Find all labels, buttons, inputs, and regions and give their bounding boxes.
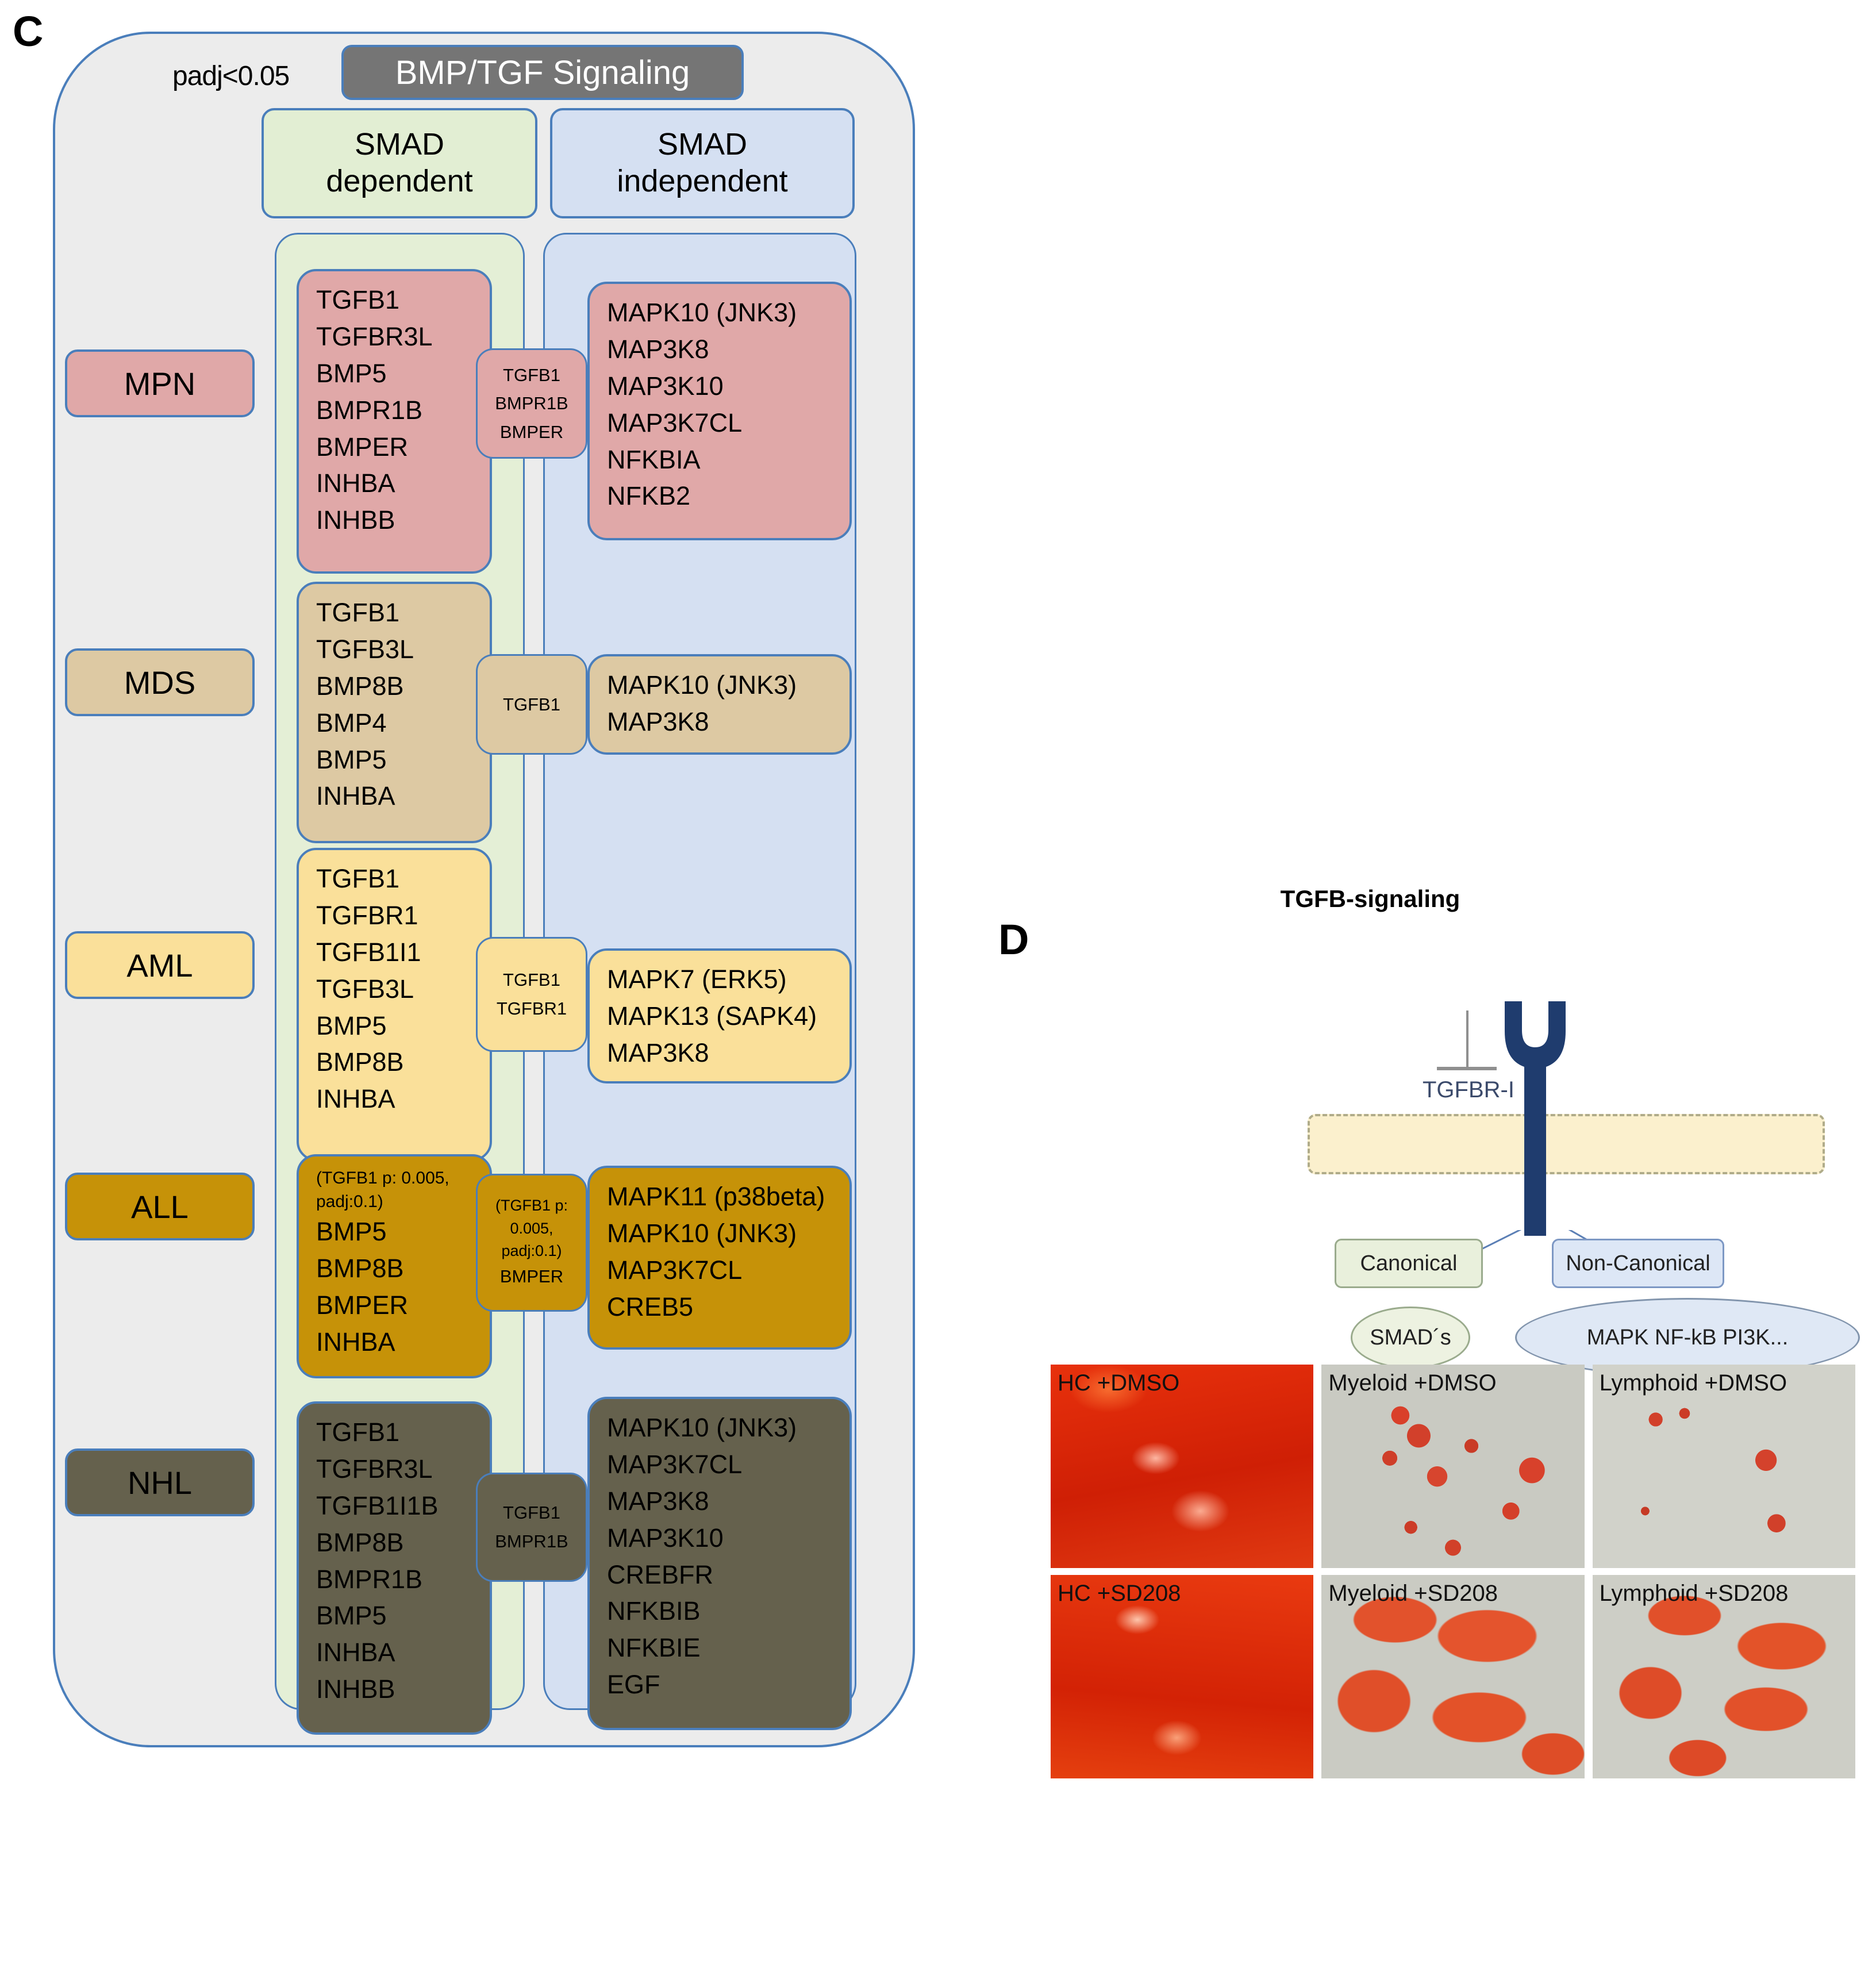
gene-name: TGFB1: [316, 594, 490, 631]
gene-name: BMPER: [316, 1287, 490, 1324]
disease-chip-mds[interactable]: MDS: [65, 648, 255, 716]
micrograph-myeloid-sd208: Myeloid +SD208: [1321, 1575, 1584, 1778]
disease-chip-label: MDS: [124, 664, 195, 701]
micrograph-label: Myeloid +SD208: [1328, 1581, 1498, 1607]
gene-name: BMP4: [316, 705, 490, 741]
gene-name: TGFBR3L: [316, 1451, 490, 1488]
gene-name: TGFB1: [316, 282, 490, 318]
disease-chip-label: MPN: [124, 365, 195, 402]
gene-name: INHBB: [316, 502, 490, 539]
gene-name: TGFB1I1: [316, 934, 490, 971]
gene-name: TGFBR1: [316, 897, 490, 934]
gene-box-independent-aml[interactable]: MAPK7 (ERK5)MAPK13 (SAPK4)MAP3K8: [587, 948, 852, 1083]
gene-name: TGFB1: [503, 361, 560, 390]
gene-box-independent-mds[interactable]: MAPK10 (JNK3)MAP3K8: [587, 654, 852, 755]
gene-box-shared-aml[interactable]: TGFB1TGFBR1: [476, 937, 587, 1052]
bmp-tgf-signaling-title: BMP/TGF Signaling: [341, 45, 744, 100]
gene-name: BMP8B: [316, 668, 490, 705]
column-header-smad-dependent: SMAD dependent: [262, 108, 537, 218]
gene-name: CREBFR: [607, 1557, 849, 1593]
column-header-smad-dependent-line1: SMAD: [355, 126, 444, 163]
panel-c-letter: C: [13, 10, 43, 53]
gene-name: NFKBIE: [607, 1630, 849, 1666]
gene-box-shared-all[interactable]: (TGFB1 p: 0.005, padj:0.1)BMPER: [476, 1174, 587, 1312]
inhibition-bar-icon: [1437, 1067, 1497, 1070]
gene-name: BMPER: [500, 1262, 563, 1291]
micrograph-label: HC +DMSO: [1058, 1370, 1179, 1396]
gene-name: MAPK13 (SAPK4): [607, 998, 849, 1035]
gene-box-independent-mpn[interactable]: MAPK10 (JNK3)MAP3K8MAP3K10MAP3K7CLNFKBIA…: [587, 282, 852, 540]
padj-threshold-label: padj<0.05: [172, 60, 289, 92]
gene-name: MAP3K10: [607, 1520, 849, 1557]
gene-name: BMP8B: [316, 1044, 490, 1081]
panel-d-title: TGFB-signaling: [1281, 885, 1460, 913]
gene-name: BMPER: [500, 418, 563, 447]
micrograph-lymphoid-dmso: Lymphoid +DMSO: [1593, 1365, 1855, 1568]
disease-chip-label: AML: [126, 947, 193, 984]
gene-name: TGFBR3L: [316, 318, 490, 355]
gene-box-dependent-aml[interactable]: TGFB1TGFBR1TGFB1I1TGFB3LBMP5BMP8BINHBA: [297, 848, 492, 1161]
micrograph-hc-sd208: HC +SD208: [1051, 1575, 1313, 1778]
gene-name: MAP3K8: [607, 1483, 849, 1520]
gene-name: INHBA: [316, 778, 490, 814]
gene-note: (TGFB1 p: 0.005, padj:0.1): [480, 1194, 583, 1262]
gene-name: BMP5: [316, 1008, 490, 1044]
gene-name: MAP3K8: [607, 331, 849, 368]
gene-name: MAPK10 (JNK3): [607, 1409, 849, 1446]
gene-name: BMP5: [316, 1597, 490, 1634]
gene-name: BMPER: [316, 429, 490, 466]
gene-name: TGFB1: [503, 1498, 560, 1527]
disease-chip-mpn[interactable]: MPN: [65, 349, 255, 417]
column-header-smad-independent-line2: independent: [617, 163, 787, 200]
disease-chip-all[interactable]: ALL: [65, 1173, 255, 1240]
gene-name: BMP5: [316, 355, 490, 392]
gene-note: (TGFB1 p: 0.005, padj:0.1): [316, 1167, 490, 1213]
gene-name: TGFBR1: [497, 994, 567, 1023]
gene-name: MAP3K7CL: [607, 1252, 849, 1289]
disease-chip-label: ALL: [131, 1188, 189, 1225]
disease-chip-label: NHL: [128, 1464, 192, 1501]
gene-name: BMP8B: [316, 1524, 490, 1561]
gene-box-dependent-nhl[interactable]: TGFB1TGFBR3LTGFB1I1BBMP8BBMPR1BBMP5INHBA…: [297, 1401, 492, 1735]
gene-name: BMPR1B: [495, 1527, 568, 1556]
gene-box-dependent-mds[interactable]: TGFB1TGFB3LBMP8BBMP4BMP5INHBA: [297, 582, 492, 843]
tgfbr-receptor-icon: [1498, 998, 1573, 1239]
micrograph-lymphoid-sd208: Lymphoid +SD208: [1593, 1575, 1855, 1778]
gene-name: TGFB1: [503, 966, 560, 994]
gene-name: BMPR1B: [495, 389, 568, 418]
gene-box-dependent-mpn[interactable]: TGFB1TGFBR3LBMP5BMPR1BBMPERINHBAINHBB: [297, 269, 492, 574]
micrograph-label: Myeloid +DMSO: [1328, 1370, 1496, 1396]
gene-name: BMP8B: [316, 1250, 490, 1287]
gene-box-independent-all[interactable]: MAPK11 (p38beta)MAPK10 (JNK3)MAP3K7CLCRE…: [587, 1166, 852, 1350]
disease-chip-aml[interactable]: AML: [65, 931, 255, 999]
column-header-smad-independent-line1: SMAD: [658, 126, 747, 163]
gene-name: BMP5: [316, 1213, 490, 1250]
gene-name: CREB5: [607, 1289, 849, 1325]
gene-box-shared-mpn[interactable]: TGFB1BMPR1BBMPER: [476, 348, 587, 459]
column-header-smad-dependent-line2: dependent: [326, 163, 472, 200]
gene-name: MAP3K8: [607, 1035, 849, 1071]
gene-name: NFKBIA: [607, 441, 849, 478]
gene-name: TGFB3L: [316, 631, 490, 668]
gene-name: MAPK10 (JNK3): [607, 1215, 849, 1252]
gene-name: BMPR1B: [316, 392, 490, 429]
micrograph-label: HC +SD208: [1058, 1581, 1181, 1607]
gene-name: MAP3K8: [607, 704, 849, 740]
gene-name: TGFB1: [316, 1414, 490, 1451]
micrograph-label: Lymphoid +DMSO: [1600, 1370, 1787, 1396]
gene-name: BMPR1B: [316, 1561, 490, 1598]
micrograph-grid: HC +DMSOMyeloid +DMSOLymphoid +DMSOHC +S…: [1051, 1365, 1855, 1778]
inhibition-stem: [1466, 1010, 1468, 1068]
gene-name: MAP3K10: [607, 368, 849, 405]
non-canonical-branch-box: Non-Canonical: [1552, 1239, 1724, 1288]
gene-name: INHBA: [316, 465, 490, 502]
gene-name: TGFB3L: [316, 971, 490, 1008]
gene-name: INHBB: [316, 1671, 490, 1708]
gene-box-independent-nhl[interactable]: MAPK10 (JNK3)MAP3K7CLMAP3K8MAP3K10CREBFR…: [587, 1397, 852, 1730]
canonical-branch-box: Canonical: [1335, 1239, 1483, 1288]
micrograph-hc-dmso: HC +DMSO: [1051, 1365, 1313, 1568]
micrograph-myeloid-dmso: Myeloid +DMSO: [1321, 1365, 1584, 1568]
gene-name: MAPK11 (p38beta): [607, 1178, 849, 1215]
gene-name: INHBA: [316, 1081, 490, 1117]
gene-box-shared-mds[interactable]: TGFB1: [476, 654, 587, 755]
micrograph-label: Lymphoid +SD208: [1600, 1581, 1789, 1607]
gene-name: MAPK10 (JNK3): [607, 667, 849, 704]
gene-name: BMP5: [316, 741, 490, 778]
gene-name: MAPK7 (ERK5): [607, 961, 849, 998]
gene-name: MAP3K7CL: [607, 1446, 849, 1483]
column-header-smad-independent: SMAD independent: [550, 108, 855, 218]
gene-name: INHBA: [316, 1324, 490, 1361]
smads-effector-oval: SMAD´s: [1351, 1307, 1470, 1369]
gene-name: NFKBIB: [607, 1593, 849, 1630]
gene-name: INHBA: [316, 1634, 490, 1671]
gene-name: TGFB1I1B: [316, 1488, 490, 1524]
panel-d-letter: D: [998, 919, 1029, 961]
disease-chip-nhl[interactable]: NHL: [65, 1448, 255, 1516]
gene-box-dependent-all[interactable]: (TGFB1 p: 0.005, padj:0.1)BMP5BMP8BBMPER…: [297, 1154, 492, 1378]
gene-name: MAPK10 (JNK3): [607, 294, 849, 331]
gene-box-shared-nhl[interactable]: TGFB1BMPR1B: [476, 1473, 587, 1582]
gene-name: TGFB1: [316, 860, 490, 897]
gene-name: TGFB1: [503, 690, 560, 719]
gene-name: MAP3K7CL: [607, 405, 849, 441]
gene-name: EGF: [607, 1666, 849, 1703]
gene-name: NFKB2: [607, 478, 849, 514]
